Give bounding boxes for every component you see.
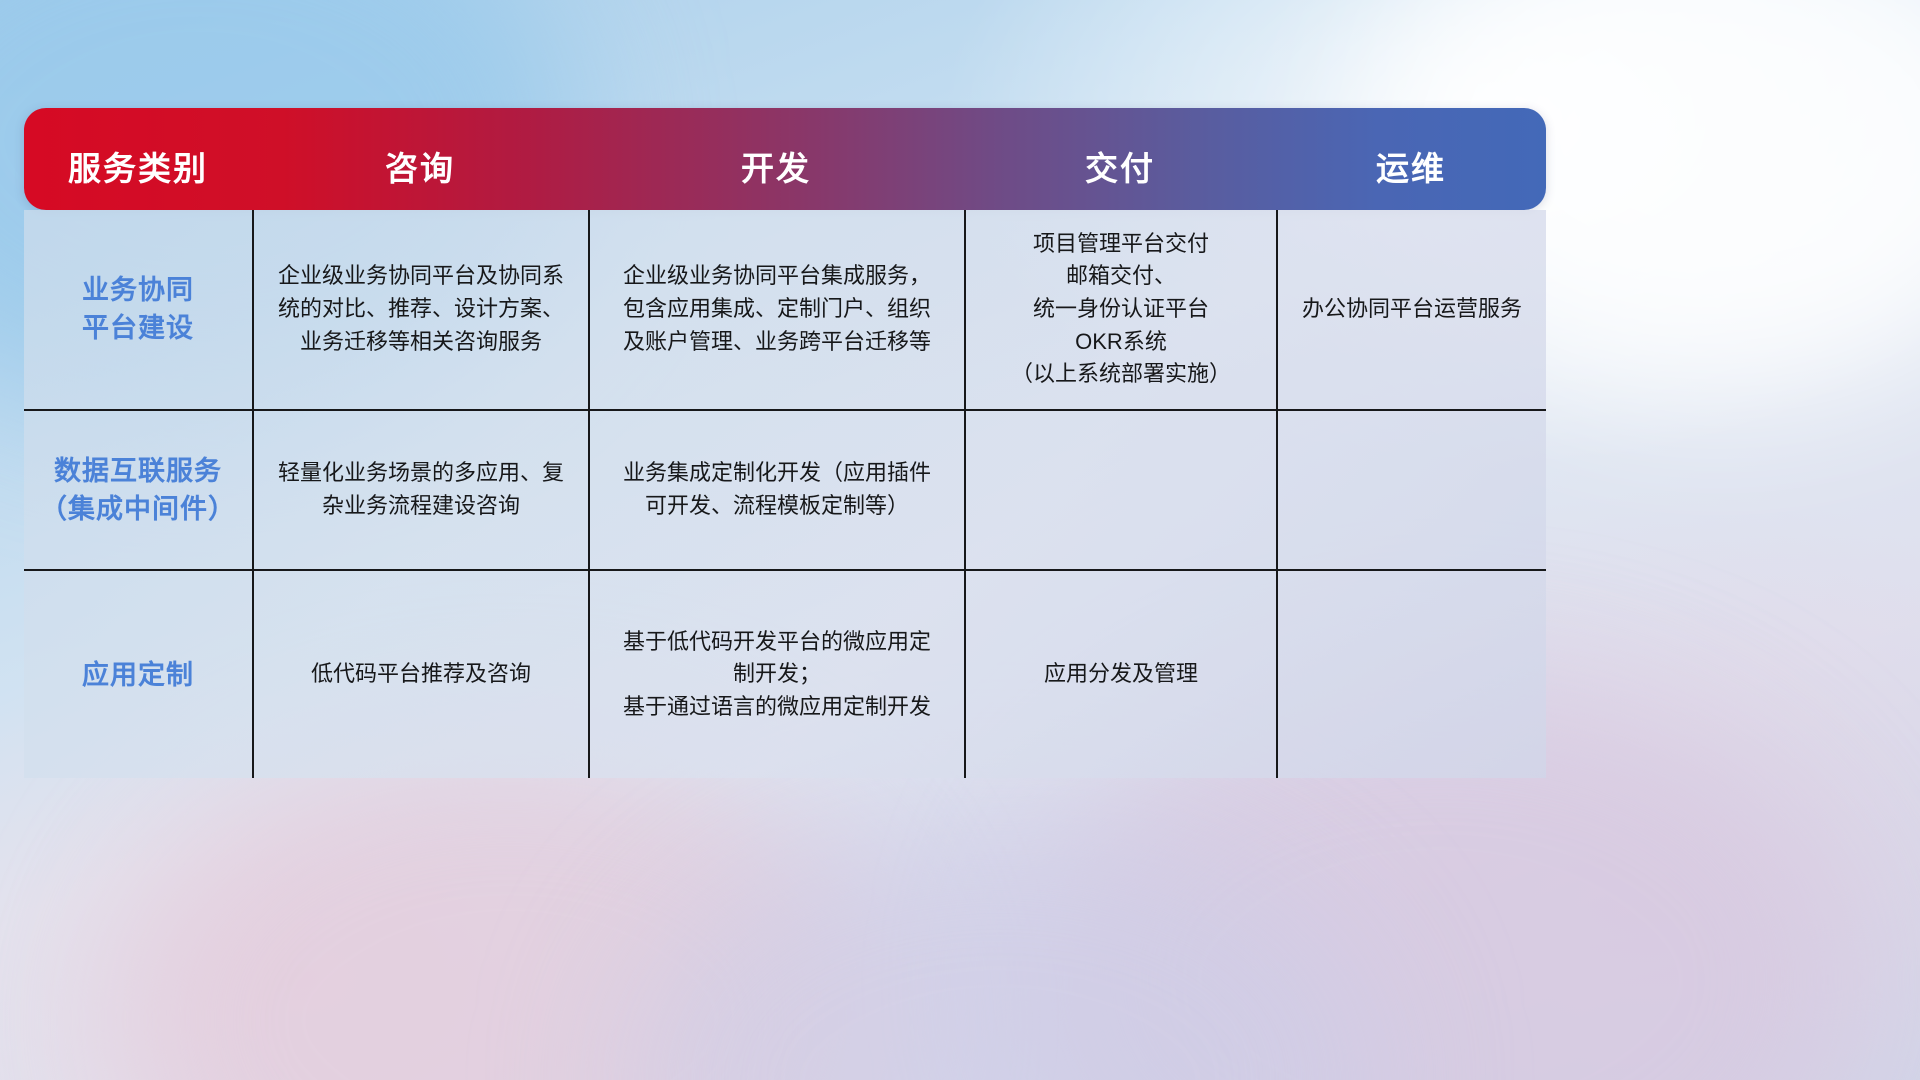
row-label-collaboration-platform: 业务协同 平台建设 [24,210,252,409]
column-header-service-category: 服务类别 [24,142,252,210]
slide-canvas: 服务类别 咨询 开发 交付 运维 业务协同 平台建设 企业级业务协同平台及协同系… [0,0,1920,1080]
cell-row3-operations [1276,571,1546,778]
column-header-development: 开发 [588,142,964,210]
column-header-consulting: 咨询 [252,142,588,210]
table-row: 业务协同 平台建设 企业级业务协同平台及协同系 统的对比、推荐、设计方案、 业务… [24,210,1546,411]
cell-row1-delivery: 项目管理平台交付 邮箱交付、 统一身份认证平台 OKR系统 （以上系统部署实施） [964,210,1276,409]
cell-row3-development: 基于低代码开发平台的微应用定 制开发； 基于通过语言的微应用定制开发 [588,571,964,778]
table-row: 数据互联服务 （集成中间件） 轻量化业务场景的多应用、复 杂业务流程建设咨询 业… [24,411,1546,572]
cell-row2-consulting: 轻量化业务场景的多应用、复 杂业务流程建设咨询 [252,411,588,570]
row-label-app-customization: 应用定制 [24,571,252,778]
background-blob-bottom-center [620,820,1380,1080]
background-blob-bottom-left [120,740,900,1080]
table-header-row: 服务类别 咨询 开发 交付 运维 [24,108,1546,210]
cell-row3-consulting: 低代码平台推荐及咨询 [252,571,588,778]
table-row: 应用定制 低代码平台推荐及咨询 基于低代码开发平台的微应用定 制开发； 基于通过… [24,571,1546,778]
cell-row3-delivery: 应用分发及管理 [964,571,1276,778]
cell-row1-consulting: 企业级业务协同平台及协同系 统的对比、推荐、设计方案、 业务迁移等相关咨询服务 [252,210,588,409]
cell-row1-operations: 办公协同平台运营服务 [1276,210,1546,409]
column-header-delivery: 交付 [964,142,1276,210]
service-matrix-table: 服务类别 咨询 开发 交付 运维 业务协同 平台建设 企业级业务协同平台及协同系… [24,108,1546,780]
cell-row2-operations [1276,411,1546,570]
row-label-data-integration: 数据互联服务 （集成中间件） [24,411,252,570]
column-header-operations: 运维 [1276,142,1546,210]
table-body: 业务协同 平台建设 企业级业务协同平台及协同系 统的对比、推荐、设计方案、 业务… [24,210,1546,778]
cell-row2-delivery [964,411,1276,570]
cell-row1-development: 企业级业务协同平台集成服务， 包含应用集成、定制门户、组织 及账户管理、业务跨平… [588,210,964,409]
cell-row2-development: 业务集成定制化开发（应用插件 可开发、流程模板定制等） [588,411,964,570]
